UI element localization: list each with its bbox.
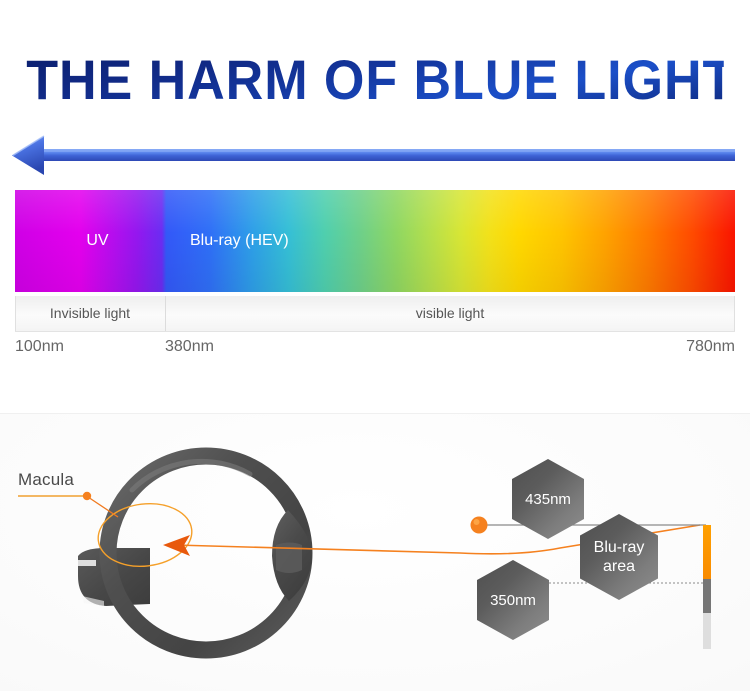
macula-label: Macula [18, 470, 74, 490]
scale-bar-gray [703, 579, 711, 613]
hexagon-435nm-label: 435nm [525, 491, 571, 508]
hexagon-350nm-label: 350nm [490, 592, 536, 609]
scale-bar-orange [703, 525, 711, 579]
hexagon-blu-ray-line1: Blu-ray [594, 538, 645, 557]
macula-leader [18, 492, 118, 517]
hexagon-blu-ray-line2: area [594, 557, 645, 576]
ray-node-dot-highlight [474, 519, 480, 525]
infographic-root: THE HARM OF BLUE LIGHT [0, 0, 750, 691]
scale-bar-light [703, 613, 711, 649]
ray-node-dot [471, 517, 488, 534]
